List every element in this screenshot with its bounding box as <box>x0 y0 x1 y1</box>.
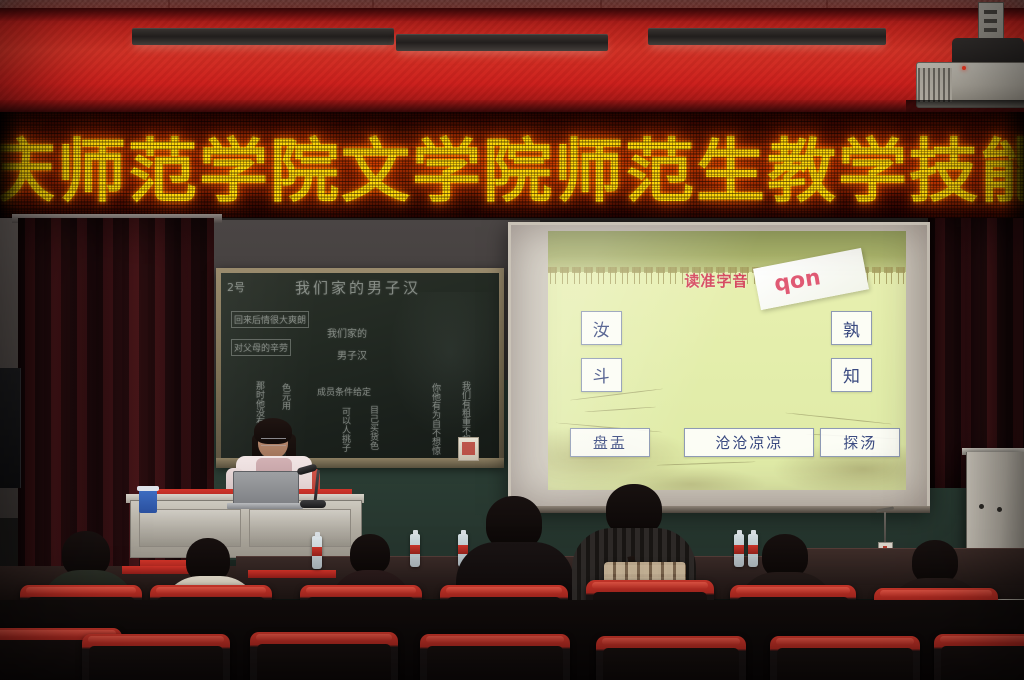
water-bottle <box>410 534 420 567</box>
led-scanlines <box>0 112 1024 218</box>
auditorium-seat[interactable] <box>250 632 398 680</box>
led-left-vignette <box>0 112 22 218</box>
glasses-icon <box>261 438 286 446</box>
audience-head <box>350 534 390 574</box>
auditorium-seat[interactable] <box>420 634 570 680</box>
ceiling-light-fixture <box>132 28 394 45</box>
blackboard-eraser <box>458 437 479 461</box>
led-scrolling-banner: 庆师范学院文学院师范生教学技能竞赛 <box>0 112 1024 218</box>
projector-mount-slot <box>984 28 997 32</box>
blackboard-glare <box>221 273 402 461</box>
ceiling-light-fixture <box>396 34 608 51</box>
led-right-vignette <box>1002 112 1024 218</box>
auditorium-seat[interactable] <box>770 636 920 680</box>
podium-panel <box>249 509 351 547</box>
presenter-laptop[interactable] <box>233 471 299 507</box>
left-curtain <box>18 218 214 618</box>
projector-mount-slot <box>984 10 997 14</box>
screen-bottom-rod <box>508 506 930 513</box>
table-red-cloth <box>122 566 194 574</box>
ceiling-light-fixture <box>648 28 886 45</box>
water-bottle <box>734 534 744 567</box>
table-red-cloth <box>248 570 336 578</box>
auditorium-seat[interactable] <box>596 636 746 680</box>
projector-mount-bracket <box>978 2 1004 42</box>
screen-vignette <box>511 225 927 507</box>
cup-lid <box>137 486 159 491</box>
laptop-base <box>227 503 303 509</box>
wall-speaker <box>0 368 21 488</box>
projector-power-led-icon <box>962 66 966 70</box>
water-bottle <box>748 534 758 567</box>
projection-screen: 读准字音 qon 汝 斗 孰 知 盘盂 沧沧凉凉 探汤 <box>508 222 930 510</box>
red-ceiling-band <box>0 8 1024 113</box>
blue-cup <box>139 489 157 513</box>
projection-surface: 读准字音 qon 汝 斗 孰 知 盘盂 沧沧凉凉 探汤 <box>511 225 927 507</box>
auditorium-seat[interactable] <box>934 634 1024 680</box>
podium-panel <box>139 509 241 547</box>
lecture-hall-photo: 庆师范学院文学院师范生教学技能竞赛 2号 我们家的男子汉 回来后情很大爽朗 对父… <box>0 0 1024 680</box>
projector-mount-slot <box>984 19 997 23</box>
curtain-folds <box>18 218 214 618</box>
auditorium-seat[interactable] <box>82 634 230 680</box>
microphone-base <box>300 500 326 508</box>
projector-vent-icon <box>918 68 952 102</box>
band-top-shadow <box>0 8 1024 21</box>
water-bottle <box>312 536 322 569</box>
blackboard-glare <box>388 292 499 442</box>
red-band-texture <box>0 8 1024 113</box>
judges-table <box>786 548 1024 585</box>
